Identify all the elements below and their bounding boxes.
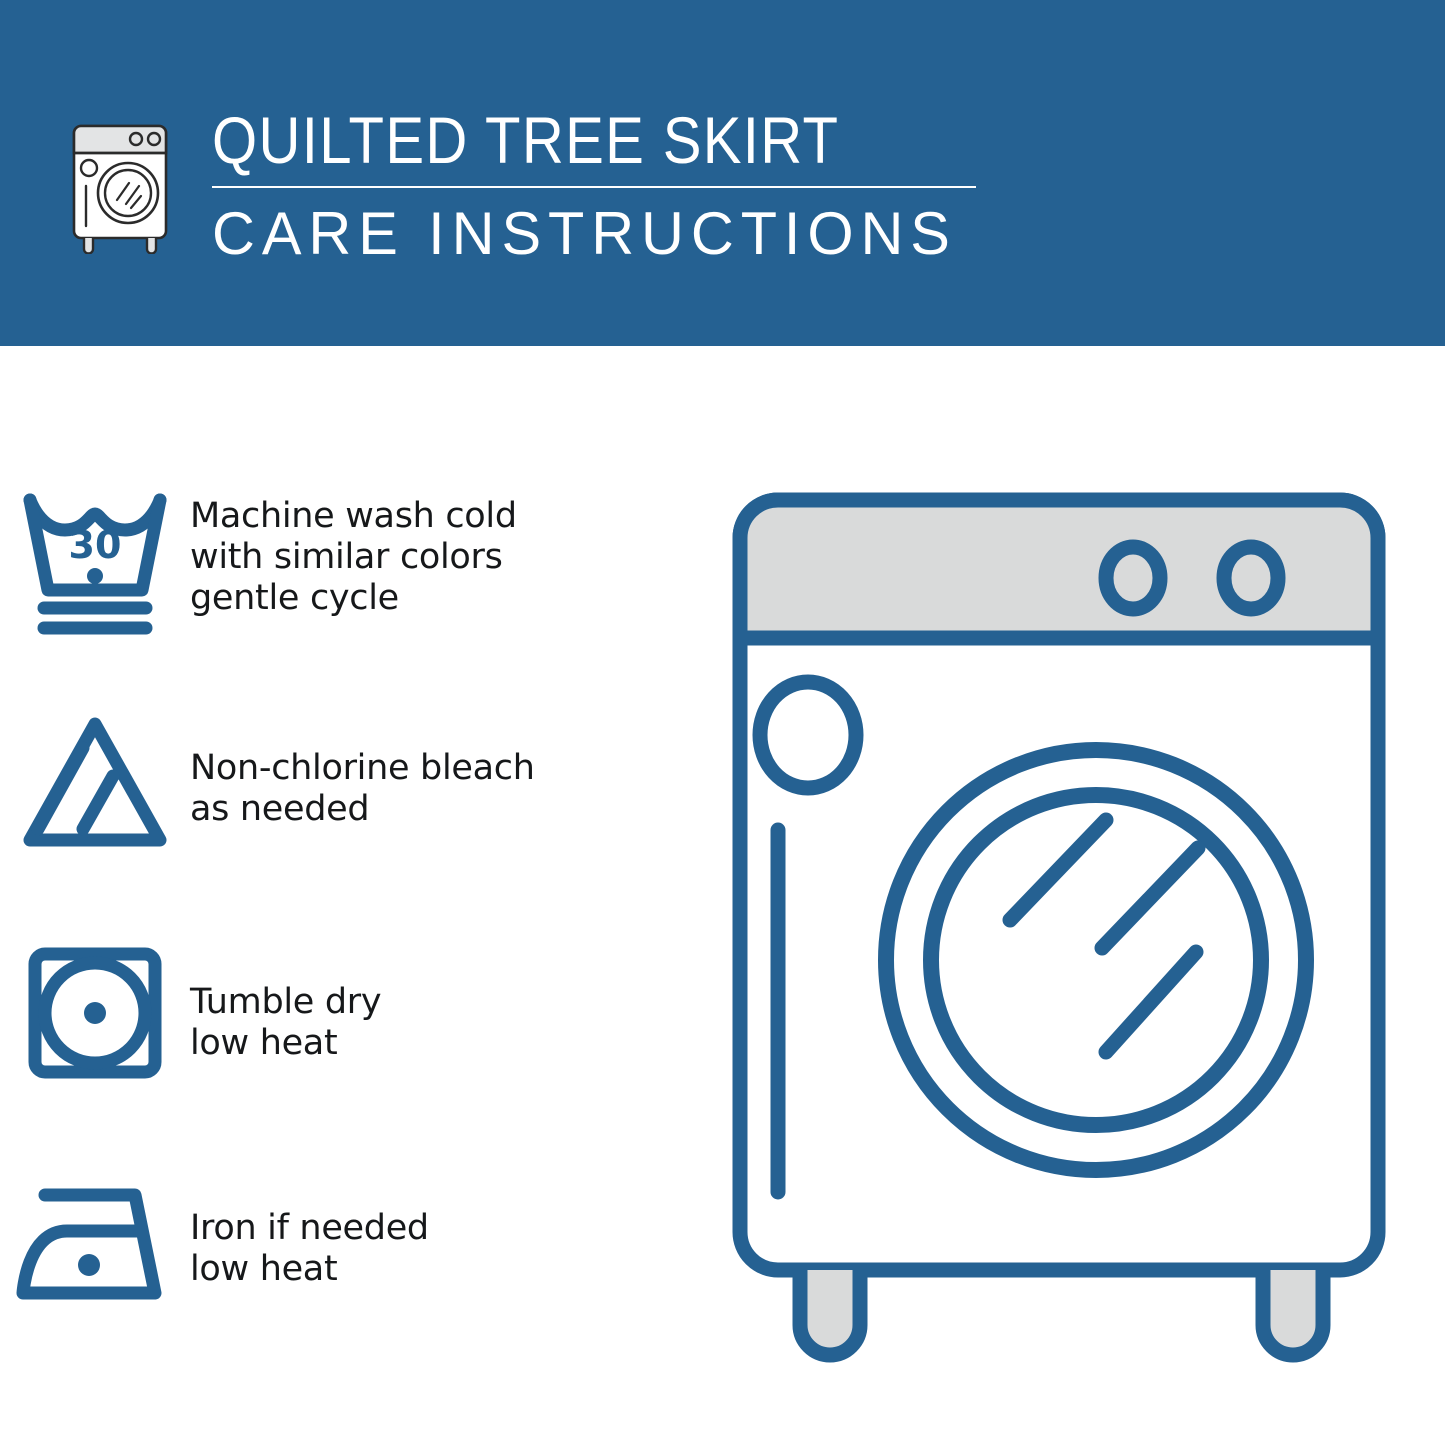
iron-low-heat-icon bbox=[0, 1160, 190, 1325]
list-item: Tumble dry low heat bbox=[0, 930, 700, 1160]
header-banner: QUILTED TREE SKIRT CARE INSTRUCTIONS bbox=[0, 0, 1445, 346]
page-subtitle: CARE INSTRUCTIONS bbox=[212, 198, 1004, 270]
care-label-dry: Tumble dry low heat bbox=[190, 930, 381, 1064]
detergent-port bbox=[760, 682, 856, 788]
care-label-line: Non-chlorine bleach bbox=[190, 748, 535, 789]
care-label-line: Iron if needed bbox=[190, 1208, 429, 1249]
care-label-line: as needed bbox=[190, 789, 535, 830]
care-instructions-infographic: QUILTED TREE SKIRT CARE INSTRUCTIONS 30 bbox=[0, 0, 1445, 1445]
care-label-line: Tumble dry bbox=[190, 982, 381, 1023]
header-title-block: QUILTED TREE SKIRT CARE INSTRUCTIONS bbox=[212, 102, 1012, 270]
care-label-bleach: Non-chlorine bleach as needed bbox=[190, 700, 535, 830]
wash-temperature-value: 30 bbox=[69, 523, 122, 567]
care-label-wash: Machine wash cold with similar colors ge… bbox=[190, 470, 517, 619]
wash-tub-30-gentle-icon: 30 bbox=[0, 470, 190, 645]
non-chlorine-bleach-triangle-icon bbox=[0, 700, 190, 865]
knob-right bbox=[1224, 547, 1278, 609]
washing-machine-icon bbox=[62, 104, 184, 254]
care-label-iron: Iron if needed low heat bbox=[190, 1160, 429, 1290]
care-label-line: gentle cycle bbox=[190, 578, 517, 619]
front-load-washing-machine-illustration bbox=[718, 480, 1398, 1380]
care-label-line: low heat bbox=[190, 1249, 429, 1290]
title-divider bbox=[212, 186, 976, 188]
list-item: Iron if needed low heat bbox=[0, 1160, 700, 1390]
door-inner-ring bbox=[931, 795, 1261, 1125]
care-label-line: Machine wash cold bbox=[190, 496, 517, 537]
leg-right bbox=[1263, 1270, 1323, 1355]
list-item: Non-chlorine bleach as needed bbox=[0, 700, 700, 930]
page-title: QUILTED TREE SKIRT bbox=[212, 102, 916, 178]
knob-left bbox=[1106, 547, 1160, 609]
care-label-line: low heat bbox=[190, 1023, 381, 1064]
tumble-dry-low-heat-icon bbox=[0, 930, 190, 1095]
list-item: 30 Machine wash cold with similar colors… bbox=[0, 470, 700, 700]
leg-left bbox=[800, 1270, 860, 1355]
care-label-line: with similar colors bbox=[190, 537, 517, 578]
care-instruction-list: 30 Machine wash cold with similar colors… bbox=[0, 470, 700, 1390]
